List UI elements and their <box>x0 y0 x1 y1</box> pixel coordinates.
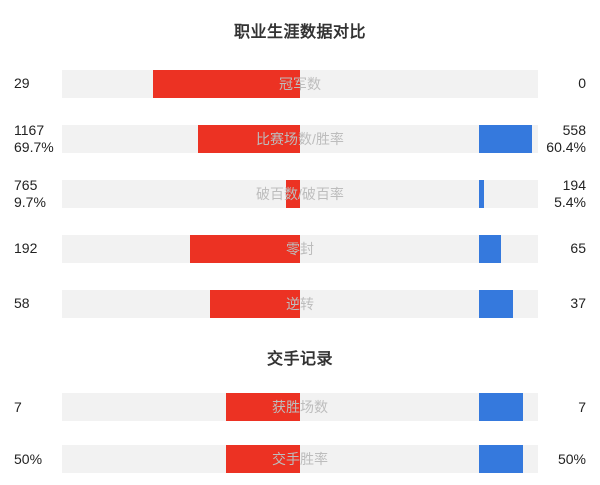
left-bar <box>190 235 300 263</box>
right-value: 50% <box>538 451 600 468</box>
right-value: 7 <box>538 399 600 416</box>
bar-area: 交手胜率 <box>62 439 538 479</box>
head-to-head-section-title: 交手记录 <box>0 331 600 381</box>
bar-track <box>62 235 538 263</box>
bar-track <box>62 70 538 98</box>
comparison-row: 50% 交手胜率 50% <box>0 433 600 485</box>
bar-track <box>62 445 538 473</box>
head-to-head-rows-container: 7 获胜场数 7 50% 交手胜率 50% <box>0 381 600 485</box>
bar-area: 逆转 <box>62 284 538 324</box>
right-bar <box>479 290 513 318</box>
bar-area: 比赛场数/胜率 <box>62 119 538 159</box>
right-value: 194 5.4% <box>538 177 600 211</box>
left-value: 29 <box>0 75 62 92</box>
bar-area: 冠军数 <box>62 64 538 104</box>
left-bar <box>210 290 300 318</box>
right-bar <box>479 445 523 473</box>
comparison-row: 765 9.7% 破百数/破百率 194 5.4% <box>0 166 600 221</box>
comparison-row: 192 零封 65 <box>0 221 600 276</box>
bar-track <box>62 290 538 318</box>
left-value: 7 <box>0 399 62 416</box>
left-value: 765 9.7% <box>0 177 62 211</box>
left-bar <box>226 393 300 421</box>
right-value: 37 <box>538 295 600 312</box>
comparison-row: 58 逆转 37 <box>0 276 600 331</box>
left-bar <box>153 70 300 98</box>
right-value: 65 <box>538 240 600 257</box>
left-bar <box>286 180 300 208</box>
bar-area: 零封 <box>62 229 538 269</box>
left-bar <box>226 445 300 473</box>
bar-area: 获胜场数 <box>62 387 538 427</box>
career-section-title: 职业生涯数据对比 <box>0 0 600 56</box>
comparison-row: 29 冠军数 0 <box>0 56 600 111</box>
right-bar <box>479 180 484 208</box>
career-comparison-panel: 职业生涯数据对比 29 冠军数 0 1167 69.7% 比赛场数/胜率 558… <box>0 0 600 480</box>
left-bar <box>198 125 300 153</box>
right-value: 558 60.4% <box>538 122 600 156</box>
left-value: 1167 69.7% <box>0 122 62 156</box>
bar-area: 破百数/破百率 <box>62 174 538 214</box>
bar-track <box>62 180 538 208</box>
left-value: 50% <box>0 451 62 468</box>
bar-track <box>62 393 538 421</box>
right-value: 0 <box>538 75 600 92</box>
bar-track <box>62 125 538 153</box>
right-bar <box>479 393 523 421</box>
right-bar <box>479 125 532 153</box>
comparison-row: 7 获胜场数 7 <box>0 381 600 433</box>
comparison-row: 1167 69.7% 比赛场数/胜率 558 60.4% <box>0 111 600 166</box>
left-value: 58 <box>0 295 62 312</box>
right-bar <box>479 235 501 263</box>
left-value: 192 <box>0 240 62 257</box>
career-rows-container: 29 冠军数 0 1167 69.7% 比赛场数/胜率 558 60.4% 76… <box>0 56 600 331</box>
